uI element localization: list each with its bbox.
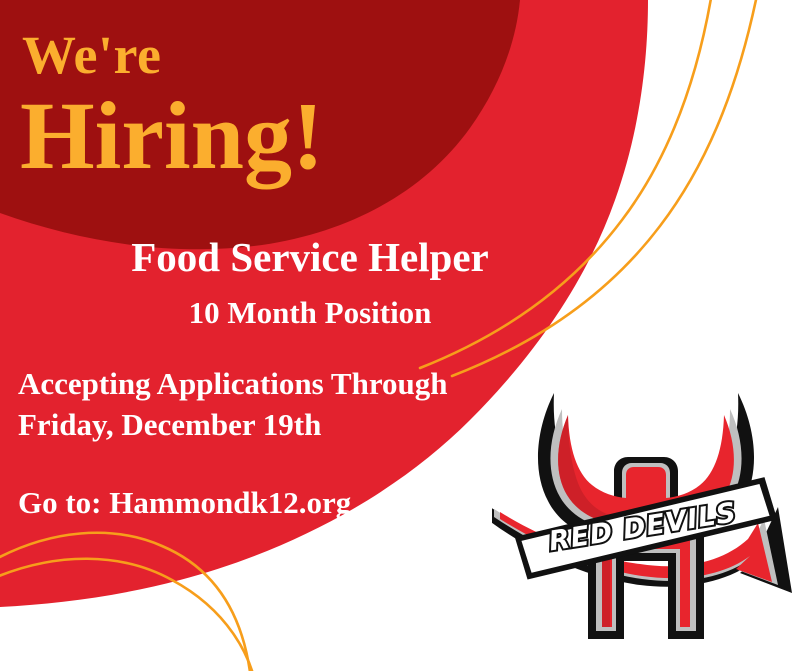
job-title: Food Service Helper [0,237,620,278]
red-devils-logo-svg: RED DEVILS [492,385,800,665]
headline-were: We're [22,28,161,82]
job-subtitle: 10 Month Position [0,297,620,328]
hiring-flyer: We're Hiring! Food Service Helper 10 Mon… [0,0,800,671]
red-devils-logo: RED DEVILS [492,385,800,665]
website-line: Go to: Hammondk12.org [18,487,351,518]
headline-hiring: Hiring! [20,88,324,184]
